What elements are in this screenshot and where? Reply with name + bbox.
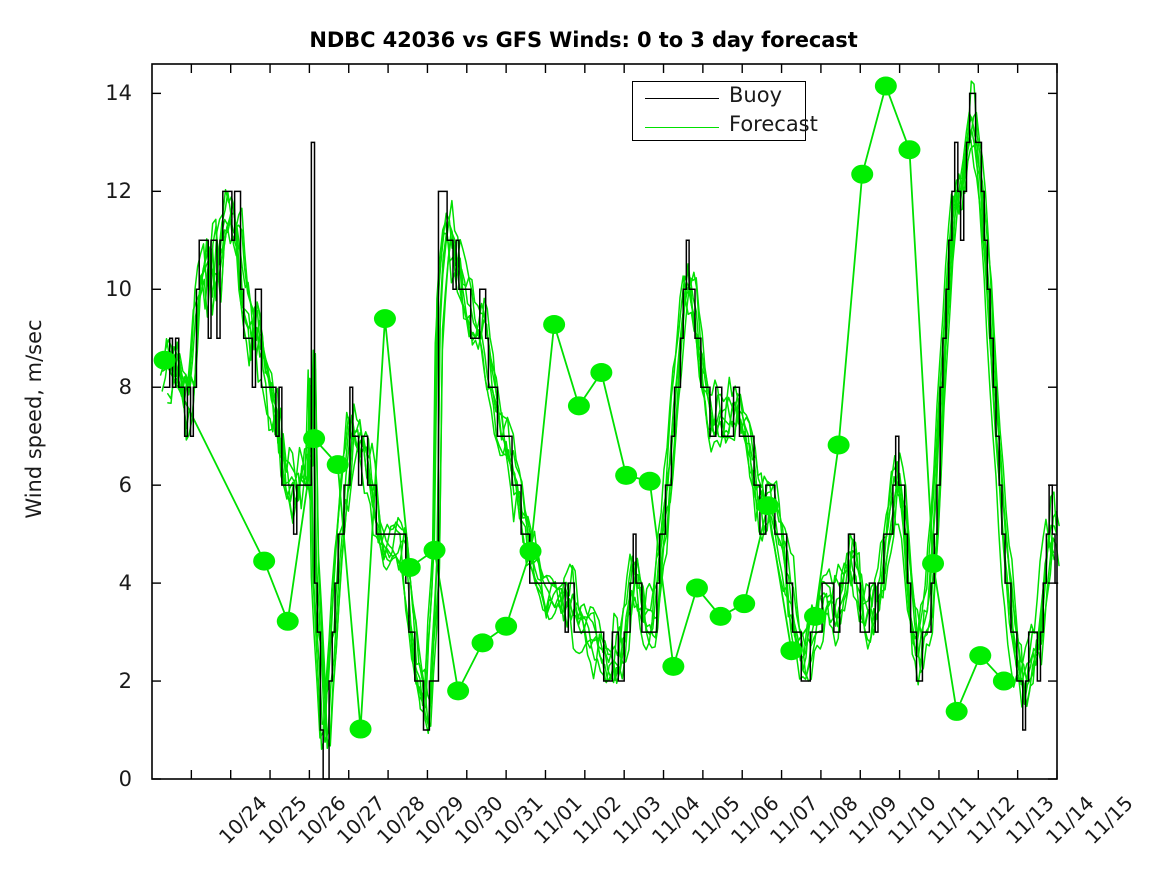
y-tick-label: 4 [70, 571, 132, 595]
forecast-marker-point [568, 396, 590, 415]
forecast-marker-point [993, 672, 1015, 691]
forecast-marker-point [851, 165, 873, 184]
figure-canvas: NDBC 42036 vs GFS Winds: 0 to 3 day fore… [0, 0, 1167, 875]
y-tick-label: 14 [70, 81, 132, 105]
forecast-marker-point [520, 542, 542, 561]
forecast-markers [154, 77, 1015, 739]
forecast-marker-point [922, 554, 944, 573]
forecast-marker-point [472, 633, 494, 652]
forecast-marker-point [303, 429, 325, 448]
forecast-marker-point [543, 315, 565, 334]
y-tick-label: 2 [70, 669, 132, 693]
forecast-marker-point [898, 140, 920, 159]
forecast-trace [168, 146, 1059, 749]
plot-area [0, 0, 1167, 875]
chart-legend: Buoy Forecast [632, 81, 806, 141]
forecast-marker-point [780, 641, 802, 660]
forecast-marker-point [350, 720, 372, 739]
forecast-marker-point [710, 607, 732, 626]
forecast-marker-point [875, 77, 897, 96]
forecast-marker-point [804, 607, 826, 626]
forecast-marker-point [757, 496, 779, 515]
forecast-marker-point [946, 702, 968, 721]
forecast-marker-point [639, 472, 661, 491]
forecast-marker-point [590, 363, 612, 382]
legend-swatch-buoy [645, 98, 719, 99]
forecast-marker-point [686, 579, 708, 598]
forecast-marker-point [327, 455, 349, 474]
legend-label-buoy: Buoy [729, 83, 782, 107]
forecast-marker-point [615, 466, 637, 485]
forecast-marker-point [424, 541, 446, 560]
forecast-marker-point [828, 436, 850, 455]
legend-swatch-forecast [645, 127, 719, 128]
y-tick-label: 8 [70, 375, 132, 399]
forecast-marker-point [733, 594, 755, 613]
forecast-marker-point [969, 646, 991, 665]
forecast-marker-point [253, 552, 275, 571]
forecast-marker-point [399, 558, 421, 577]
legend-label-forecast: Forecast [729, 112, 818, 136]
forecast-marker-point [154, 351, 176, 370]
forecast-series-lines [161, 81, 1060, 749]
y-tick-label: 0 [70, 767, 132, 791]
y-tick-label: 10 [70, 277, 132, 301]
forecast-marker-point [495, 617, 517, 636]
legend-item-forecast: Forecast [633, 113, 805, 142]
y-tick-label: 12 [70, 179, 132, 203]
legend-item-buoy: Buoy [633, 84, 805, 113]
forecast-marker-point [374, 309, 396, 328]
forecast-marker-point [662, 657, 684, 676]
forecast-marker-point [277, 612, 299, 631]
forecast-marker-point [447, 681, 469, 700]
y-tick-label: 6 [70, 473, 132, 497]
